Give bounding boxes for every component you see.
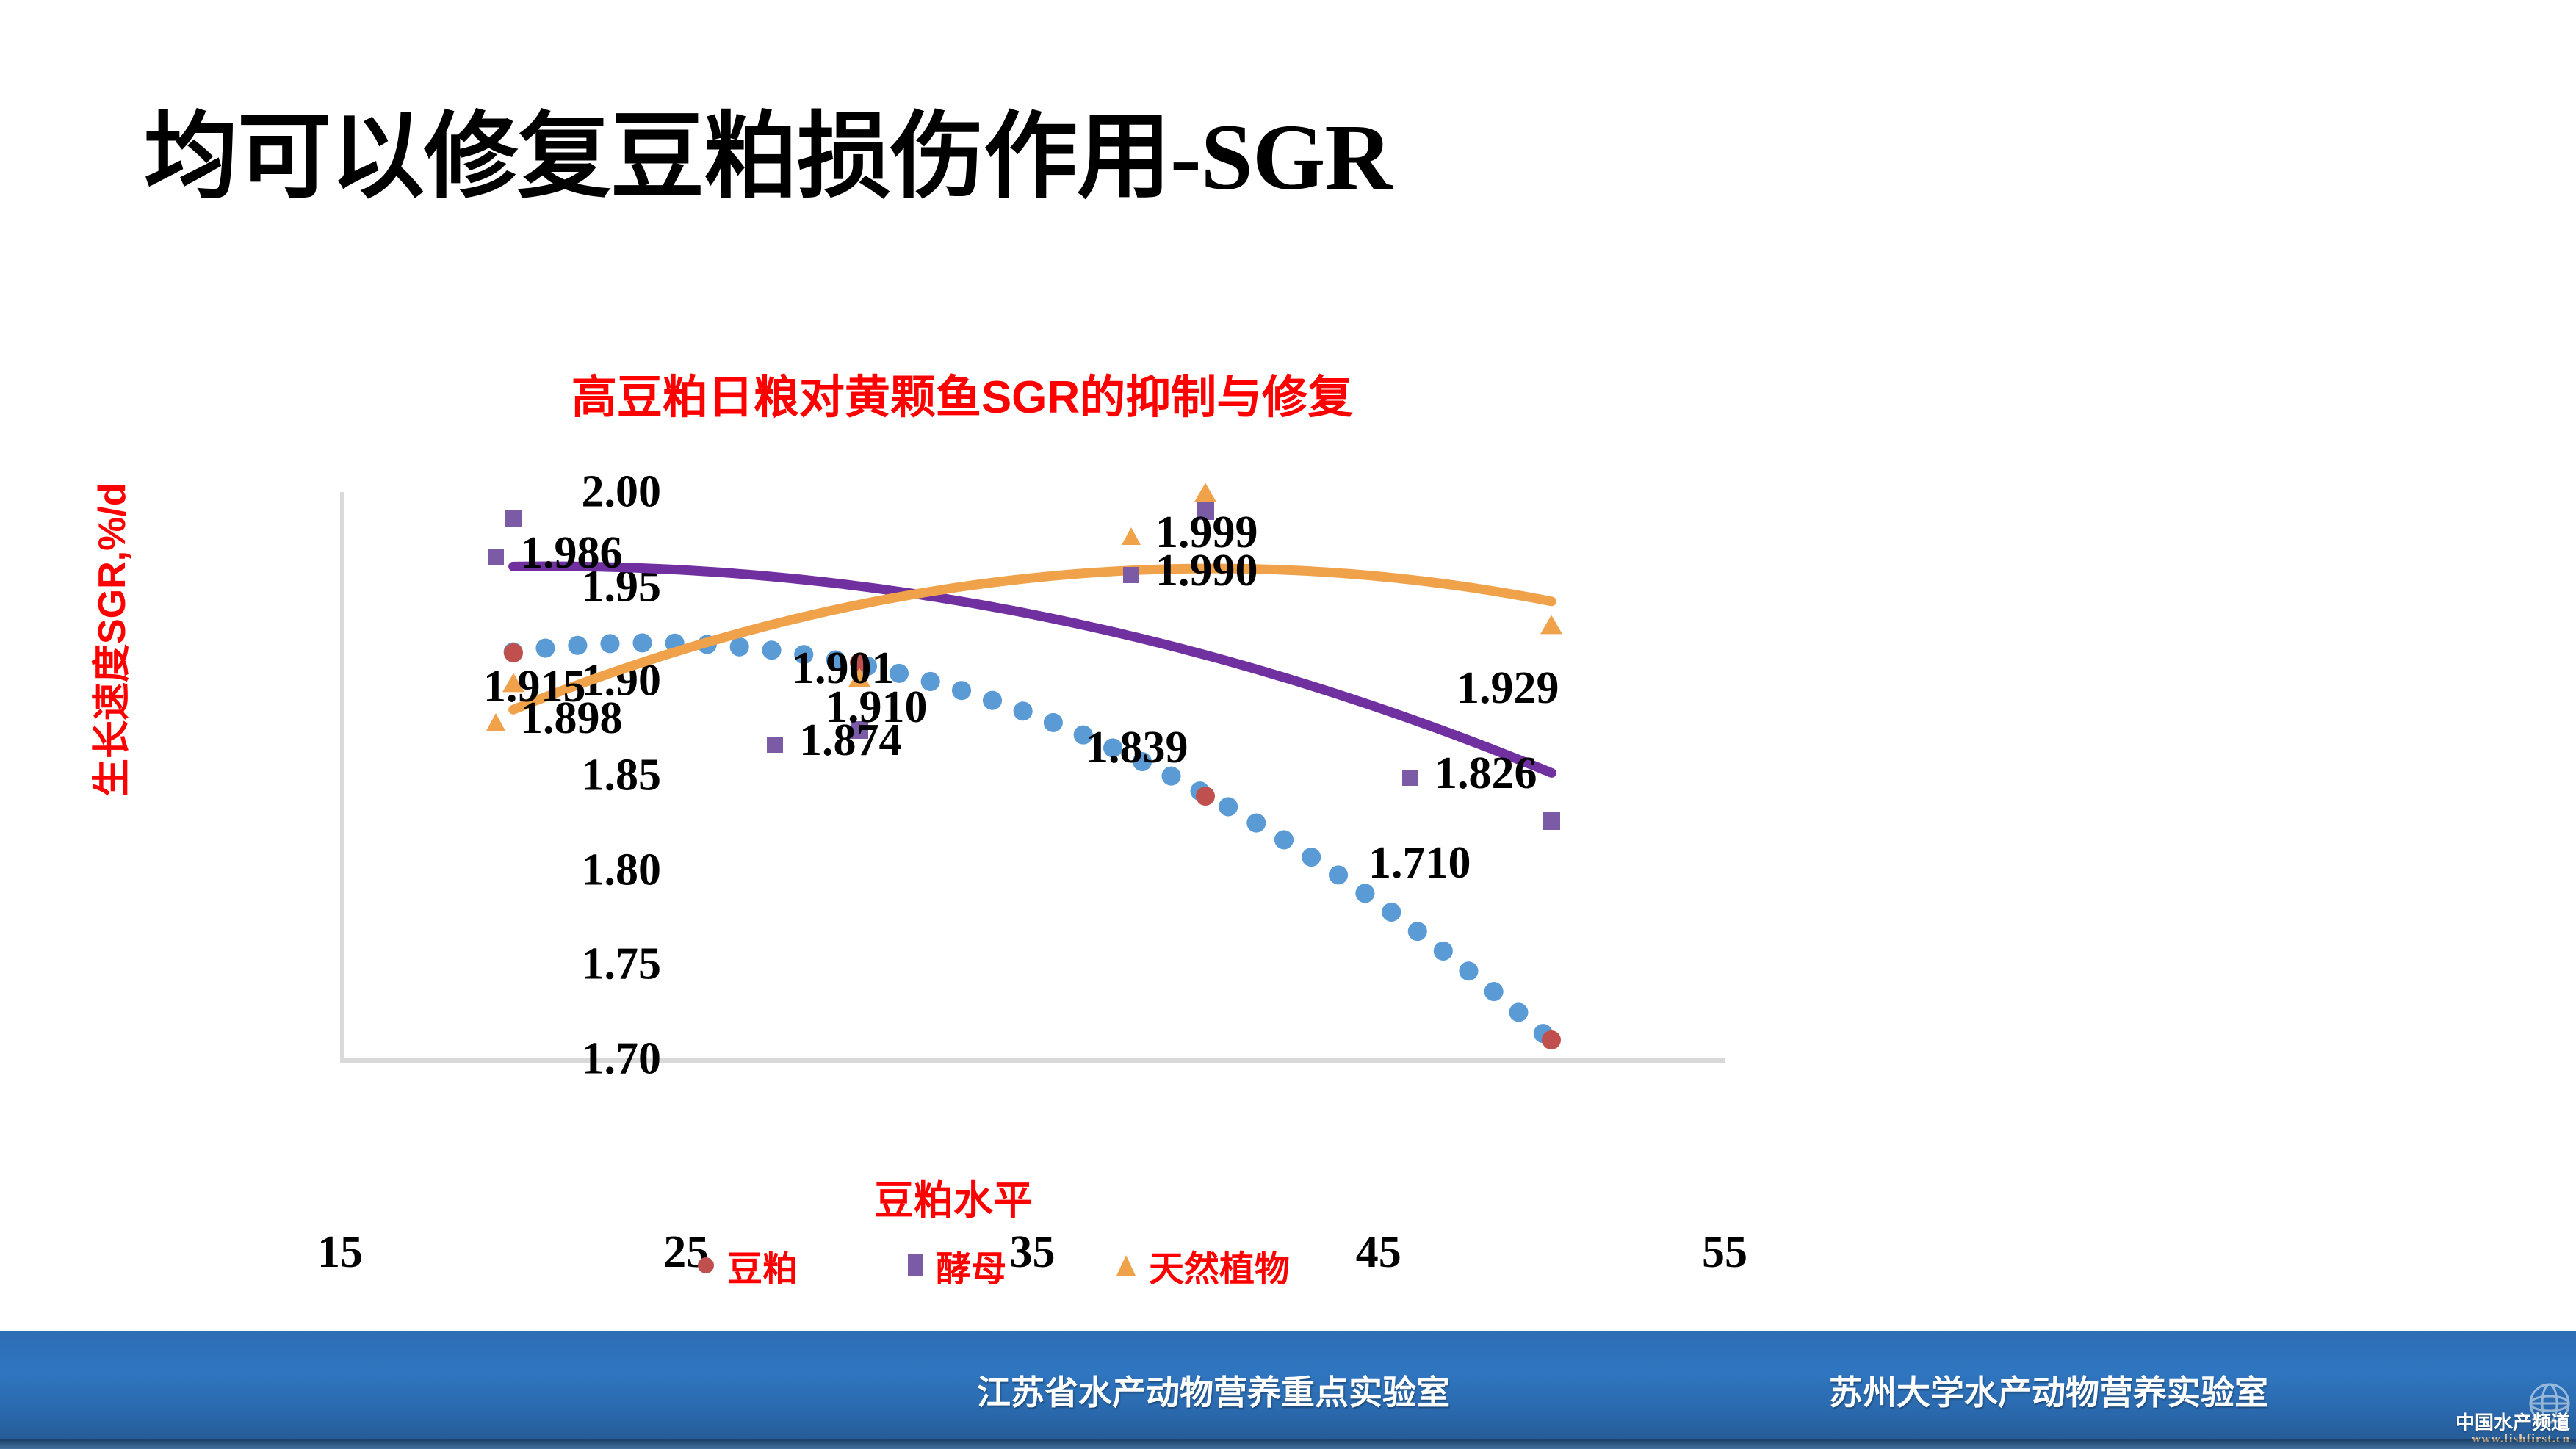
legend-label: 豆粕 bbox=[727, 1240, 798, 1291]
footer-bar: 江苏省水产动物营养重点实验室 苏州大学水产动物营养实验室 中国水产频道 www.… bbox=[0, 1328, 2576, 1449]
data-value-label: 1.839 bbox=[1086, 722, 1188, 774]
square-marker-icon bbox=[488, 549, 504, 565]
data-point-marker bbox=[1543, 812, 1560, 830]
x-tick-label: 15 bbox=[317, 1226, 363, 1279]
data-point-marker bbox=[504, 643, 523, 662]
data-point-marker bbox=[505, 510, 522, 527]
data-point-marker bbox=[1196, 787, 1215, 806]
data-value-label: 1.898 bbox=[520, 693, 623, 745]
square-marker-icon bbox=[1402, 770, 1418, 786]
data-value-text: 1.898 bbox=[520, 693, 623, 743]
data-value-label: 1.826 bbox=[1435, 748, 1537, 800]
data-point-marker bbox=[1194, 483, 1216, 502]
data-point-marker bbox=[1540, 615, 1562, 634]
data-value-text: 1.874 bbox=[799, 715, 902, 765]
data-point-marker bbox=[1542, 1030, 1561, 1049]
triangle-marker-icon bbox=[486, 713, 505, 731]
trend-line-酵母 bbox=[513, 566, 1552, 773]
data-value-label: 1.874 bbox=[799, 715, 902, 767]
x-axis-title: 豆粕水平 bbox=[874, 1168, 1033, 1226]
watermark-text: 中国水产频道 bbox=[2456, 1413, 2570, 1432]
legend-item-doubo[interactable]: 豆粕 bbox=[698, 1240, 798, 1291]
data-value-text: 1.710 bbox=[1368, 838, 1471, 888]
data-value-label: 1.929 bbox=[1457, 662, 1559, 715]
data-value-text: 1.839 bbox=[1086, 723, 1188, 773]
legend-item-jiaomu[interactable]: 酵母 bbox=[908, 1240, 1006, 1291]
triangle-marker-icon bbox=[1122, 527, 1141, 545]
square-marker-icon bbox=[1123, 567, 1139, 583]
y-axis-title: 生长速度SGR,%/d bbox=[81, 483, 136, 797]
square-marker-icon bbox=[767, 737, 783, 753]
legend-label: 天然植物 bbox=[1149, 1240, 1290, 1291]
x-tick-label: 55 bbox=[1702, 1226, 1747, 1279]
legend-label: 酵母 bbox=[936, 1240, 1006, 1291]
square-marker-icon bbox=[908, 1254, 923, 1276]
footer-shade bbox=[0, 1439, 2576, 1449]
data-value-label: 1.990 bbox=[1155, 545, 1258, 597]
page-title: 均可以修复豆粕损伤作用-SGR bbox=[144, 110, 1392, 204]
legend-item-tianranzhiwu[interactable]: 天然植物 bbox=[1116, 1240, 1290, 1291]
triangle-marker-icon bbox=[1116, 1255, 1136, 1276]
data-value-text: 1.929 bbox=[1457, 663, 1559, 713]
footer-lab-left: 江苏省水产动物营养重点实验室 bbox=[977, 1366, 1450, 1414]
data-value-text: 1.990 bbox=[1155, 546, 1258, 596]
data-value-text: 1.826 bbox=[1435, 748, 1537, 798]
chart-container: 高豆粕日粮对黄颗鱼SGR的抑制与修复 生长速度SGR,%/d 豆粕水平 2.00… bbox=[0, 345, 1880, 1322]
data-value-text: 1.986 bbox=[520, 528, 623, 578]
data-value-label: 1.986 bbox=[520, 527, 623, 579]
circle-marker-icon bbox=[698, 1257, 714, 1273]
footer-lab-right: 苏州大学水产动物营养实验室 bbox=[1829, 1366, 2268, 1414]
plot-area: 2.001.951.901.851.801.751.70 1525354555 … bbox=[340, 492, 1725, 1059]
chart-legend: 豆粕 酵母 天然植物 bbox=[698, 1240, 1290, 1291]
data-value-label: 1.710 bbox=[1368, 837, 1471, 889]
x-tick-label: 45 bbox=[1356, 1226, 1401, 1279]
chart-title: 高豆粕日粮对黄颗鱼SGR的抑制与修复 bbox=[485, 360, 1440, 426]
